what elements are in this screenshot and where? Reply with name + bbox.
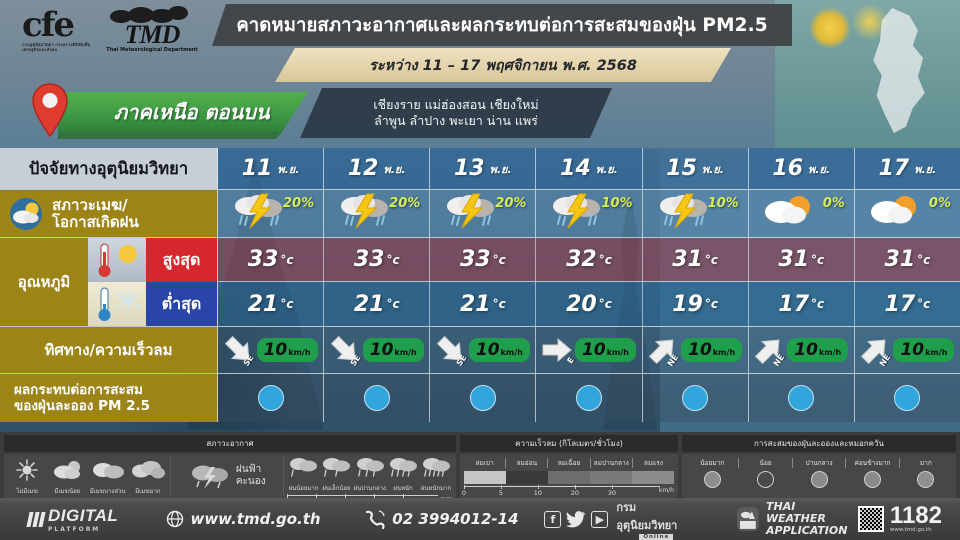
max-temp-cell: 33 °c xyxy=(324,238,430,281)
wind-direction-arrow-icon: NE xyxy=(648,334,678,366)
table-corner-label: ปัจจัยทางอุตุนิยมวิทยา xyxy=(0,148,218,189)
temp-unit: °c xyxy=(386,297,399,311)
region-banner: ภาคเหนือ ตอนบน xyxy=(58,92,308,132)
max-temp-value: 31 xyxy=(778,247,809,272)
sky-row-label: สภาวะเมฆ/ โอกาสเกิดฝน xyxy=(0,190,218,237)
temperature-row-label: อุณหภูมิ xyxy=(0,238,218,326)
wind-scale-unit: km/h xyxy=(659,487,674,494)
max-temp-cell: 32 °c xyxy=(536,238,642,281)
wind-cell: NE 10 km/h xyxy=(643,327,749,373)
legend-sky-item: มีเมฆบางส่วน xyxy=(89,456,127,496)
ministry-logo-mark: cfe xyxy=(22,8,100,42)
pm25-level-dot xyxy=(894,385,920,411)
day-month: พ.ย. xyxy=(808,160,830,178)
sun-icon xyxy=(12,459,42,485)
legend-sky-label: มีเมฆมาก xyxy=(135,486,160,496)
min-temp-cell: 21 °c xyxy=(324,282,430,326)
weather-app-item[interactable]: THAI WEATHER APPLICATION xyxy=(736,501,858,537)
legend-pm25-category: มาก xyxy=(899,458,952,468)
min-temp-value: 21 xyxy=(354,292,385,317)
legend-wind-title: ความเร็วลม (กิโลเมตร/ชั่วโมง) xyxy=(460,435,678,452)
legend-storm-line2: คะนอง xyxy=(236,476,266,488)
day-number: 15 xyxy=(666,158,697,180)
legend-rain-label: ฝนหนักมาก xyxy=(421,483,451,493)
min-temp-cells: 21 °c 21 °c 21 °c 20 °c 19 °c 17 °c 17 °… xyxy=(218,282,960,326)
facebook-icon[interactable]: f xyxy=(544,511,561,528)
max-temp-cell: 31 °c xyxy=(643,238,749,281)
tmd-logo-subtitle: Thai Meteorological Department xyxy=(96,47,208,54)
min-temp-cell: 17 °c xyxy=(749,282,855,326)
wind-scale-axis: km/h 05102030 xyxy=(464,485,674,497)
temp-unit: °c xyxy=(917,297,930,311)
rain-chance: 10% xyxy=(601,196,632,211)
scale-tick-label: 5 xyxy=(499,489,503,497)
sky-cell: 10% xyxy=(643,190,749,237)
legend-sky-item: มีเมฆน้อย xyxy=(48,456,86,496)
table-header-row: ปัจจัยทางอุตุนิยมวิทยา 11 พ.ย. 12 พ.ย. 1… xyxy=(0,148,960,190)
day-header-cell: 11 พ.ย. xyxy=(218,148,324,189)
temp-unit: °c xyxy=(386,253,399,267)
legend-wind-panel: ความเร็วลม (กิโลเมตร/ชั่วโมง) ลมเบาลมอ่อ… xyxy=(460,435,678,498)
wind-speed-value: 10 xyxy=(688,340,712,360)
min-temp-value: 20 xyxy=(566,292,597,317)
main-title-banner: คาดหมายสภาวะอากาศและผลกระทบต่อการสะสมของ… xyxy=(212,4,792,46)
date-range: ระหว่าง 11 – 17 พฤศจิกายน พ.ศ. 2568 xyxy=(369,54,637,77)
rain-chance: 10% xyxy=(708,196,739,211)
qr-code-icon[interactable] xyxy=(858,506,884,532)
legend-pm25-title: การสะสมของฝุ่นละอองและหมอกควัน xyxy=(682,435,956,452)
thailand-map-icon xyxy=(856,8,942,133)
province-line-1: เชียงราย แม่ฮ่องสอน เชียงใหม่ xyxy=(373,97,538,113)
wind-speed-pill: 10 km/h xyxy=(681,338,742,362)
region-banner-shadow xyxy=(58,132,282,139)
legend-pm25-dot xyxy=(917,471,934,488)
legend-rain-item: ฝนน้อยมาก xyxy=(287,456,319,493)
day-header-cell: 16 พ.ย. xyxy=(749,148,855,189)
day-number: 17 xyxy=(879,158,910,180)
phone-item[interactable]: 02 3994012-14 xyxy=(364,509,540,529)
wind-cells: SE 10 km/h SE 10 km/h xyxy=(218,327,960,373)
min-temp-cell: 21 °c xyxy=(430,282,536,326)
pm25-label-line2: ของฝุ่นละออง PM 2.5 xyxy=(14,398,150,414)
thunderstorm-icon xyxy=(336,192,394,236)
temp-unit: °c xyxy=(493,253,506,267)
wind-speed-value: 10 xyxy=(476,340,500,360)
max-temp-cell: 33 °c xyxy=(430,238,536,281)
min-temp-value: 19 xyxy=(672,292,703,317)
department-online-badge: Online xyxy=(639,534,673,540)
max-temp-value: 31 xyxy=(672,247,703,272)
rain-heavy-icon xyxy=(387,456,419,482)
pm25-row-label: ผลกระทบต่อการสะสม ของฝุ่นละออง PM 2.5 xyxy=(0,374,218,422)
day-month: พ.ย. xyxy=(383,160,405,178)
max-temp-value: 33 xyxy=(354,247,385,272)
sky-row-label-text: สภาวะเมฆ/ โอกาสเกิดฝน xyxy=(52,197,139,231)
wind-speed-unit: km/h xyxy=(501,348,523,357)
legend-sky-item: ไม่มีเมฆ xyxy=(8,456,46,496)
day-header-cell: 12 พ.ย. xyxy=(324,148,430,189)
legend-sky-title: สภาวะอากาศ xyxy=(4,435,456,452)
province-list: เชียงราย แม่ฮ่องสอน เชียงใหม่ ลำพูน ลำปา… xyxy=(300,88,612,138)
thunderstorm-icon xyxy=(230,192,288,236)
min-temp-value: 21 xyxy=(460,292,491,317)
legend-rain-item: ฝนเล็กน้อย xyxy=(320,456,352,493)
wind-speed-pill: 10 km/h xyxy=(575,338,636,362)
min-temp-value: 21 xyxy=(248,292,279,317)
pm25-cell xyxy=(324,374,430,422)
legend-wind-category: ลมปานกลาง xyxy=(590,458,632,468)
sky-label-line1: สภาวะเมฆ/ xyxy=(52,197,139,214)
wind-speed-value: 10 xyxy=(264,340,288,360)
temp-unit: °c xyxy=(280,253,293,267)
thermometer-hot-icon xyxy=(88,238,146,282)
wind-speed-value: 10 xyxy=(582,340,606,360)
legend-rain-items: ฝนน้อยมาก ฝนเล็กน้อย ฝนปานกลาง ฝนหนัก ฝน… xyxy=(287,456,452,493)
department-brand: กรมอุตุนิยมวิทยา Online xyxy=(616,498,696,540)
pm25-cell xyxy=(749,374,855,422)
temp-unit: °c xyxy=(599,297,612,311)
scale-tick-label: 0 xyxy=(462,489,466,497)
legend-pm25-category: ค่อนข้างมาก xyxy=(845,458,898,468)
max-temp-cell: 31 °c xyxy=(855,238,960,281)
temperature-label: อุณหภูมิ xyxy=(0,238,88,326)
wind-direction-arrow-icon: E xyxy=(542,334,572,366)
pm25-level-dot xyxy=(682,385,708,411)
rain-vheavy-icon xyxy=(420,456,452,482)
ministry-logo-caption: กรมอุตุนิยมวิทยา กระทรวงดิจิทัลเพื่อเศรษ… xyxy=(22,42,100,52)
min-temp-cell: 20 °c xyxy=(536,282,642,326)
sky-cell: 0% xyxy=(855,190,960,237)
app-name-line2: APPLICATION xyxy=(766,525,858,537)
pm25-cell xyxy=(855,374,960,422)
scale-tick-label: 30 xyxy=(608,489,616,497)
wind-speed-pill: 10 km/h xyxy=(893,338,954,362)
wind-speed-value: 10 xyxy=(900,340,924,360)
legend-sky-label: มีเมฆบางส่วน xyxy=(90,486,126,496)
cloudy-icon xyxy=(131,459,165,485)
wind-row-label: ทิศทาง/ความเร็วลม xyxy=(0,327,218,373)
temp-unit: °c xyxy=(599,253,612,267)
wind-row: ทิศทาง/ความเร็วลม SE 10 km/h SE 10 xyxy=(0,326,960,374)
wind-cell: NE 10 km/h xyxy=(749,327,855,373)
department-name: กรมอุตุนิยมวิทยา xyxy=(616,498,696,534)
legend-pm25-dots xyxy=(686,471,952,488)
wind-speed-pill: 10 km/h xyxy=(363,338,424,362)
wind-speed-pill: 10 km/h xyxy=(787,338,848,362)
wind-speed-unit: km/h xyxy=(288,348,310,357)
temp-unit: °c xyxy=(280,297,293,311)
cloud-sun-icon xyxy=(6,197,46,231)
min-temp-cell: 19 °c xyxy=(643,282,749,326)
day-number: 14 xyxy=(560,158,591,180)
legend-wind-categories: ลมเบาลมอ่อนลมเฉื่อยลมปานกลางลมแรง xyxy=(464,456,674,470)
legend-wind-gradient xyxy=(464,471,674,484)
date-range-banner: ระหว่าง 11 – 17 พฤศจิกายน พ.ศ. 2568 xyxy=(275,48,731,82)
wind-direction-arrow-icon: NE xyxy=(754,334,784,366)
day-number: 11 xyxy=(242,158,273,180)
rain-moderate-icon xyxy=(354,456,386,482)
ministry-logo: cfe กรมอุตุนิยมวิทยา กระทรวงดิจิทัลเพื่อ… xyxy=(22,8,100,60)
max-temp-label: สูงสุด xyxy=(146,238,217,282)
sky-cell: 10% xyxy=(536,190,642,237)
day-month: พ.ย. xyxy=(596,160,618,178)
legend-storm-item: ฝนฟ้า คะนอง xyxy=(170,456,284,496)
region-name: ภาคเหนือ ตอนบน xyxy=(58,96,270,128)
footer-bar: DIGITAL PLATFORM www.tmd.go.th 02 399401… xyxy=(0,498,960,540)
pm25-row: ผลกระทบต่อการสะสม ของฝุ่นละออง PM 2.5 xyxy=(0,374,960,422)
min-temp-cell: 17 °c xyxy=(855,282,960,326)
rain-chance: 0% xyxy=(823,196,845,211)
app-name-line1: THAI WEATHER xyxy=(766,501,858,525)
legend-wind-category: ลมเบา xyxy=(464,458,505,468)
pm25-cell xyxy=(643,374,749,422)
digital-platform-text: DIGITAL xyxy=(48,506,118,526)
temp-unit: °c xyxy=(917,253,930,267)
day-number: 16 xyxy=(772,158,803,180)
temperature-row: อุณหภูมิ xyxy=(0,238,960,326)
wind-speed-pill: 10 km/h xyxy=(469,338,530,362)
scale-tick-label: 10 xyxy=(534,489,542,497)
legend-sky-label: มีเมฆน้อย xyxy=(55,486,81,496)
legend-rain-item: ฝนหนัก xyxy=(387,456,419,493)
day-header-cell: 17 พ.ย. xyxy=(855,148,960,189)
digital-platform-logo: DIGITAL PLATFORM xyxy=(0,506,166,533)
legend-wind-category: ลมอ่อน xyxy=(505,458,547,468)
partly-cloudy-icon xyxy=(867,192,925,236)
pm25-cell xyxy=(430,374,536,422)
day-number: 12 xyxy=(348,158,379,180)
thunderstorm-icon xyxy=(655,192,713,236)
day-month: พ.ย. xyxy=(277,160,299,178)
location-pin-icon xyxy=(30,82,70,138)
legend-storm-line1: ฝนฟ้า xyxy=(236,464,266,476)
pm25-level-dot xyxy=(576,385,602,411)
tmd-logo: TMD Thai Meteorological Department xyxy=(96,6,208,62)
hotline-item: 1182 www.tmd.go.th xyxy=(858,505,942,533)
wind-direction-arrow-icon: SE xyxy=(224,334,254,366)
day-month: พ.ย. xyxy=(914,160,936,178)
legend-pm25-category: น้อยมาก xyxy=(686,458,738,468)
wind-speed-unit: km/h xyxy=(819,348,841,357)
page-title: คาดหมายสภาวะอากาศและผลกระทบต่อการสะสมของ… xyxy=(236,11,767,40)
day-header-cells: 11 พ.ย. 12 พ.ย. 13 พ.ย. 14 พ.ย. 15 พ.ย. … xyxy=(218,148,960,189)
tmd-logo-text: TMD xyxy=(96,23,208,47)
day-header-cell: 13 พ.ย. xyxy=(430,148,536,189)
pm25-level-dot xyxy=(470,385,496,411)
legend-rain-item: ฝนปานกลาง xyxy=(353,456,386,493)
digital-platform-sub: PLATFORM xyxy=(48,526,118,533)
wind-speed-unit: km/h xyxy=(607,348,629,357)
weather-forecast-infographic: cfe กรมอุตุนิยมวิทยา กระทรวงดิจิทัลเพื่อ… xyxy=(0,0,960,540)
forecast-table: ปัจจัยทางอุตุนิยมวิทยา 11 พ.ย. 12 พ.ย. 1… xyxy=(0,148,960,432)
wind-cell: E 10 km/h xyxy=(536,327,642,373)
website-item[interactable]: www.tmd.go.th xyxy=(166,510,364,528)
rain-light-icon xyxy=(320,456,352,482)
temp-unit: °c xyxy=(493,297,506,311)
legend-sky-panel: สภาวะอากาศ ไม่มีเมฆ มีเมฆน้อย มีเมฆบางส่… xyxy=(4,435,456,498)
tmd-logo-clouds-icon xyxy=(96,6,208,23)
legend-rain-label: ฝนเล็กน้อย xyxy=(322,483,350,493)
website-url: www.tmd.go.th xyxy=(190,510,320,528)
day-header-cell: 14 พ.ย. xyxy=(536,148,642,189)
sky-cell: 20% xyxy=(218,190,324,237)
max-temp-cell: 33 °c xyxy=(218,238,324,281)
background-hero-right xyxy=(775,0,960,150)
pm25-label-line1: ผลกระทบต่อการสะสม xyxy=(14,382,150,398)
legend-wind-category: ลมเฉื่อย xyxy=(547,458,589,468)
thermometer-icons xyxy=(88,238,146,326)
day-month: พ.ย. xyxy=(490,160,512,178)
day-number: 13 xyxy=(454,158,485,180)
legend-wind-category: ลมแรง xyxy=(632,458,674,468)
pm25-level-dot xyxy=(258,385,284,411)
legend-rain-label: ฝนหนัก xyxy=(393,483,412,493)
sky-condition-row: สภาวะเมฆ/ โอกาสเกิดฝน 20% xyxy=(0,190,960,238)
wind-direction-arrow-icon: NE xyxy=(860,334,890,366)
sky-cells: 20% 20% 20% xyxy=(218,190,960,237)
partly-cloudy-icon xyxy=(761,192,819,236)
cloud-sun-small-icon xyxy=(50,459,84,485)
thunderstorm-icon xyxy=(189,461,231,491)
min-temp-value: 17 xyxy=(778,292,809,317)
temp-unit: °c xyxy=(811,297,824,311)
scale-tick-label: 20 xyxy=(571,489,579,497)
legend-pm25-categories: น้อยมากน้อยปานกลางค่อนข้างมากมาก xyxy=(686,456,952,469)
legend-rain-label: ฝนน้อยมาก xyxy=(289,483,319,493)
wind-cell: SE 10 km/h xyxy=(430,327,536,373)
legend-sky-item: มีเมฆมาก xyxy=(129,456,167,496)
digital-bars-icon xyxy=(28,512,44,527)
min-temp-label: ต่ำสุด xyxy=(146,282,217,326)
youtube-icon[interactable]: ▶ xyxy=(591,511,608,528)
temp-unit: °c xyxy=(811,253,824,267)
phone-icon xyxy=(364,509,386,529)
wind-cell: SE 10 km/h xyxy=(324,327,430,373)
temperature-caption-labels: สูงสุด ต่ำสุด xyxy=(146,238,217,326)
legend-pm25-dot xyxy=(704,471,721,488)
thermometer-cold-icon xyxy=(88,282,146,326)
phone-number: 02 3994012-14 xyxy=(392,510,518,528)
wind-speed-value: 10 xyxy=(370,340,394,360)
legend-pm25-dot xyxy=(757,471,774,488)
wind-cell: SE 10 km/h xyxy=(218,327,324,373)
rain-chance: 20% xyxy=(283,196,314,211)
wind-speed-unit: km/h xyxy=(713,348,735,357)
wind-speed-pill: 10 km/h xyxy=(257,338,318,362)
legend-sky-label: ไม่มีเมฆ xyxy=(16,486,37,496)
hotline-number: 1182 xyxy=(890,505,942,527)
min-temp-value: 17 xyxy=(885,292,916,317)
sky-cell: 0% xyxy=(749,190,855,237)
twitter-icon[interactable] xyxy=(566,511,586,528)
min-temp-cell: 21 °c xyxy=(218,282,324,326)
legend-pm25-panel: การสะสมของฝุ่นละอองและหมอกควัน น้อยมากน้… xyxy=(682,435,956,498)
thunderstorm-icon xyxy=(442,192,500,236)
pm25-cell xyxy=(218,374,324,422)
legend-rain-scale: ฝนน้อยมาก ฝนเล็กน้อย ฝนปานกลาง ฝนหนัก ฝน… xyxy=(287,456,452,496)
rain-chance: 20% xyxy=(495,196,526,211)
partly-cloudy-icon xyxy=(91,459,125,485)
legend-bar: สภาวะอากาศ ไม่มีเมฆ มีเมฆน้อย มีเมฆบางส่… xyxy=(0,432,960,498)
wind-direction-arrow-icon: SE xyxy=(436,334,466,366)
rain-chance: 20% xyxy=(389,196,420,211)
rain-vlight-icon xyxy=(287,456,319,482)
sky-cell: 20% xyxy=(430,190,536,237)
globe-icon xyxy=(166,510,184,528)
pm25-level-dot xyxy=(788,385,814,411)
wind-direction-arrow-icon: SE xyxy=(330,334,360,366)
pm25-cell xyxy=(536,374,642,422)
max-temp-value: 33 xyxy=(248,247,279,272)
legend-rain-label: ฝนปานกลาง xyxy=(353,483,386,493)
wind-speed-unit: km/h xyxy=(925,348,947,357)
sky-label-line2: โอกาสเกิดฝน xyxy=(52,214,139,231)
wind-speed-value: 10 xyxy=(794,340,818,360)
day-month: พ.ย. xyxy=(702,160,724,178)
thunderstorm-icon xyxy=(548,192,606,236)
social-links[interactable]: f ▶ xyxy=(544,511,608,528)
max-temp-value: 31 xyxy=(885,247,916,272)
temp-unit: °c xyxy=(705,253,718,267)
max-temp-value: 32 xyxy=(566,247,597,272)
legend-pm25-category: น้อย xyxy=(738,458,791,468)
sky-cell: 20% xyxy=(324,190,430,237)
pm25-cells xyxy=(218,374,960,422)
temperature-values: 33 °c 33 °c 33 °c 32 °c 31 °c 31 °c 31 °… xyxy=(218,238,960,326)
rain-chance: 0% xyxy=(929,196,951,211)
app-temple-icon xyxy=(736,506,760,532)
pm25-row-label-text: ผลกระทบต่อการสะสม ของฝุ่นละออง PM 2.5 xyxy=(14,382,150,414)
wind-speed-unit: km/h xyxy=(394,348,416,357)
day-header-cell: 15 พ.ย. xyxy=(643,148,749,189)
legend-pm25-category: ปานกลาง xyxy=(792,458,845,468)
pm25-level-dot xyxy=(364,385,390,411)
legend-pm25-dot xyxy=(811,471,828,488)
wind-cell: NE 10 km/h xyxy=(855,327,960,373)
legend-sky-items: ไม่มีเมฆ มีเมฆน้อย มีเมฆบางส่วน มีเมฆมาก xyxy=(8,456,167,496)
legend-pm25-dot xyxy=(864,471,881,488)
province-line-2: ลำพูน ลำปาง พะเยา น่าน แพร่ xyxy=(374,113,538,129)
max-temp-cells: 33 °c 33 °c 33 °c 32 °c 31 °c 31 °c 31 °… xyxy=(218,238,960,282)
temp-unit: °c xyxy=(705,297,718,311)
max-temp-cell: 31 °c xyxy=(749,238,855,281)
max-temp-value: 33 xyxy=(460,247,491,272)
legend-rain-item: ฝนหนักมาก xyxy=(420,456,452,493)
